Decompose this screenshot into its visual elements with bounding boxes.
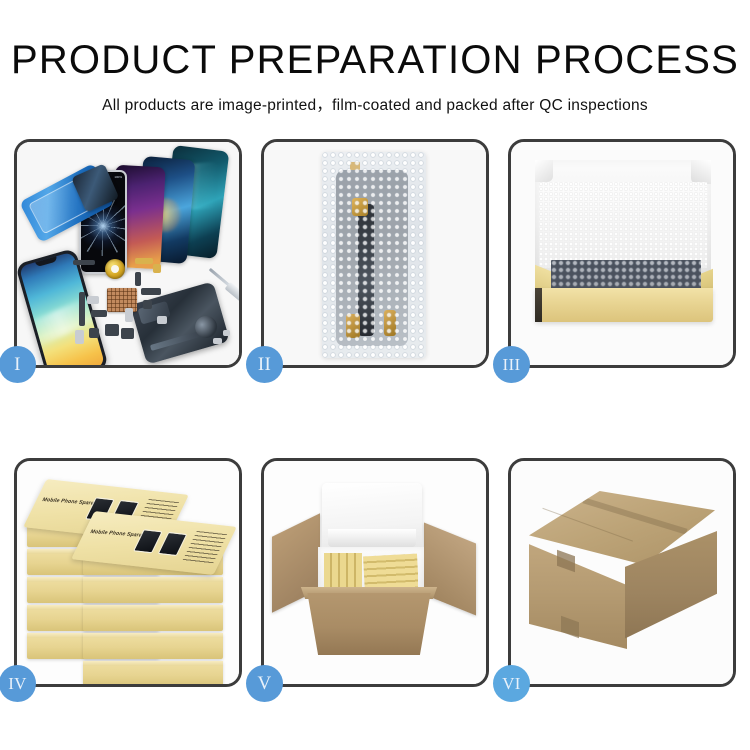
bubble-texture-overlay bbox=[322, 152, 426, 358]
step-badge-5: V bbox=[246, 665, 283, 702]
step-badge-4: IV bbox=[0, 665, 36, 702]
spare-part bbox=[91, 310, 107, 317]
process-step-panel-4[interactable]: Mobile Phone Spare Parts Mobile Phone Sp… bbox=[14, 458, 242, 687]
foam-sheet bbox=[539, 182, 707, 268]
spare-part bbox=[87, 296, 99, 304]
stacked-box bbox=[83, 577, 223, 603]
spare-part bbox=[121, 328, 134, 339]
spare-part bbox=[141, 288, 161, 295]
panel-4-image: Mobile Phone Spare Parts Mobile Phone Sp… bbox=[17, 461, 239, 684]
spare-part bbox=[153, 264, 161, 273]
spare-part bbox=[213, 338, 222, 344]
page-header: PRODUCT PREPARATION PROCESS All products… bbox=[0, 0, 750, 115]
spare-part bbox=[223, 330, 230, 336]
spare-part bbox=[135, 258, 153, 264]
box-stack: Mobile Phone Spare Parts Mobile Phone Sp… bbox=[21, 479, 237, 679]
panel-3-image bbox=[511, 142, 733, 365]
label-phone-swatch bbox=[158, 532, 188, 556]
process-step-panel-1[interactable]: 9:41 100% bbox=[14, 139, 242, 368]
step-badge-2: II bbox=[246, 346, 283, 383]
spare-part bbox=[79, 292, 85, 326]
carton-front-wall bbox=[302, 593, 436, 655]
speaker-coil-part bbox=[105, 259, 125, 279]
page-title: PRODUCT PREPARATION PROCESS bbox=[0, 38, 750, 82]
spare-part bbox=[157, 316, 167, 324]
spare-part bbox=[143, 300, 152, 309]
panel-1-image: 9:41 100% bbox=[17, 142, 239, 365]
step-badge-3: III bbox=[493, 346, 530, 383]
page-subtitle: All products are image-printed，film-coat… bbox=[0, 93, 750, 115]
housing-strip bbox=[150, 331, 200, 351]
step-badge-6: VI bbox=[493, 665, 530, 702]
spare-part bbox=[75, 330, 84, 344]
carton-flap-right bbox=[424, 522, 476, 615]
stacked-box bbox=[83, 605, 223, 631]
spare-part bbox=[125, 308, 133, 322]
process-step-panel-6[interactable]: VI bbox=[508, 458, 736, 687]
foam-cooler-lid bbox=[322, 483, 422, 553]
process-step-grid: 9:41 100% bbox=[14, 139, 736, 687]
stacked-box bbox=[83, 661, 223, 684]
spare-part bbox=[135, 272, 141, 286]
panel-2-image bbox=[264, 142, 486, 365]
panel-6-image bbox=[511, 461, 733, 684]
process-step-panel-3[interactable]: III bbox=[508, 139, 736, 368]
panel-5-image bbox=[264, 461, 486, 684]
spare-part bbox=[89, 328, 99, 338]
process-step-panel-2[interactable]: II bbox=[261, 139, 489, 368]
step-badge-1: I bbox=[0, 346, 36, 383]
spare-part bbox=[105, 324, 119, 336]
bubble-wrapped-contents bbox=[551, 260, 701, 290]
inner-box-front-wall bbox=[535, 288, 713, 322]
stacked-box bbox=[83, 633, 223, 659]
process-step-panel-5[interactable]: V bbox=[261, 458, 489, 687]
phone-status-battery: 100% bbox=[114, 175, 122, 179]
spare-part bbox=[73, 260, 95, 265]
bubble-wrap-bag bbox=[322, 152, 426, 358]
label-spec-lines bbox=[182, 531, 227, 564]
